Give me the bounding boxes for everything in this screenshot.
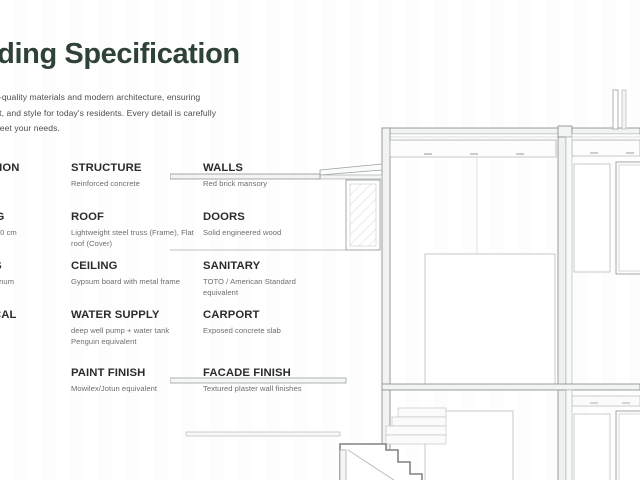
building-section-drawing — [170, 78, 640, 480]
spec-item-windows: WINDOWS Powdered aluminum — [0, 260, 72, 287]
drawing-shell — [170, 90, 640, 480]
spec-item-carpet: Tropical Carpet — [0, 367, 72, 382]
page-title: Building Specification — [0, 38, 240, 71]
upper-left-wall — [382, 128, 390, 390]
spec-item-electrical: ELECTRICAL — [0, 309, 72, 325]
upper-ceiling-soffit — [390, 140, 556, 157]
upper-right-room — [572, 140, 640, 156]
stair-upper-flight — [386, 408, 446, 444]
chimney-pipe — [613, 90, 626, 129]
left-annex-slab — [170, 174, 346, 250]
upper-interior-partition — [425, 157, 555, 390]
spec-heading: WINDOWS — [0, 260, 72, 272]
door-upper-right — [616, 162, 640, 274]
upper-left-window — [320, 164, 382, 250]
slide-canvas: Building Specification Built with high-q… — [0, 0, 640, 480]
spec-body: Granite tile 60x60 cm — [0, 227, 72, 238]
spec-heading: ELECTRICAL — [0, 309, 72, 321]
roof-slab — [382, 126, 640, 137]
spec-body: Concrete slab — [0, 178, 72, 189]
spec-body: Tropical Carpet — [0, 371, 72, 382]
spec-item-foundation: FOUNDATION Concrete slab — [0, 162, 72, 189]
upper-column — [558, 137, 572, 390]
spec-heading: FLOORING — [0, 211, 72, 223]
spec-item-flooring: FLOORING Granite tile 60x60 cm — [0, 211, 72, 238]
spec-heading: FOUNDATION — [0, 162, 72, 174]
upper-right-partition — [574, 162, 640, 274]
spec-body: Powdered aluminum — [0, 276, 72, 287]
section-drawing-svg — [170, 78, 640, 480]
